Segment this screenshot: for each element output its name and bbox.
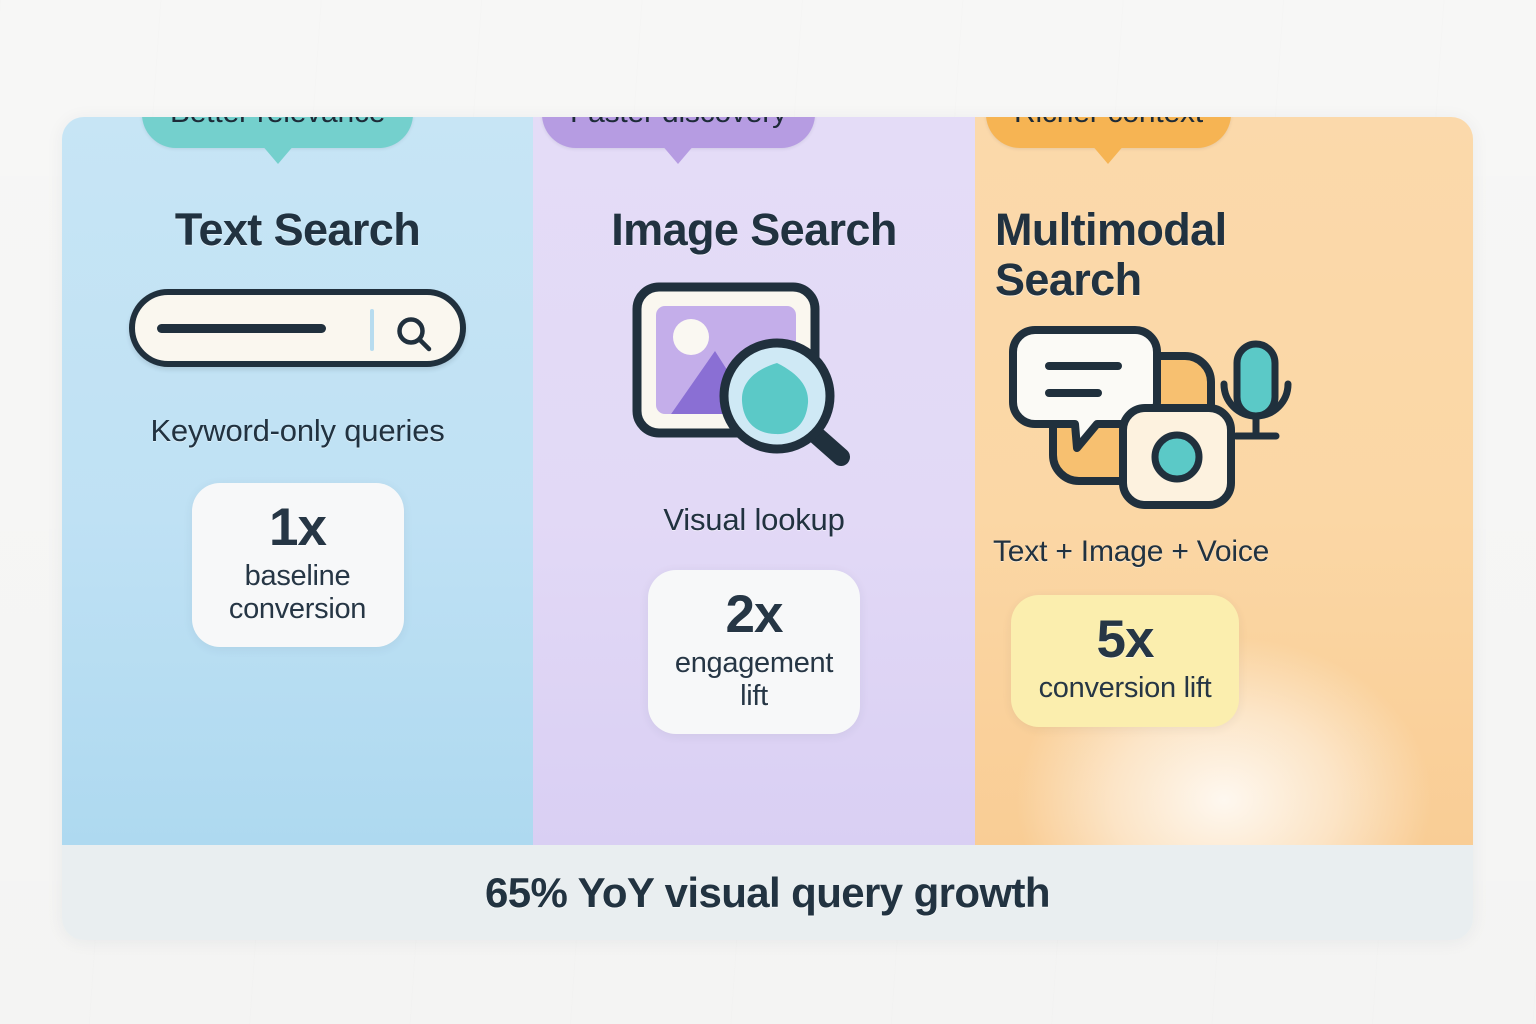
search-query-line [157,324,326,333]
column-image-search-inner: Faster discovery Image Search [533,117,975,845]
column-multimodal-search-inner: Richer context Multimodal Search [975,117,1473,845]
chat-camera-mic-icon[interactable] [987,318,1311,523]
stat-card-text-search: 1x baseline conversion [192,483,404,647]
badge-tail [1091,144,1125,164]
caption-multimodal-search: Text + Image + Voice [987,533,1269,571]
badge-label: Faster discovery [570,117,787,129]
search-divider [370,309,374,351]
stat-number: 5x [1025,613,1225,666]
caption-label: Keyword-only queries [150,413,444,448]
caption-image-search: Visual lookup [589,500,919,540]
infographic-board: Better relevance Text Search Key [62,117,1473,940]
column-image-search[interactable]: Faster discovery Image Search [533,117,975,845]
page-title-multimodal-search: Multimodal Search [987,205,1325,306]
column-multimodal-search[interactable]: Richer context Multimodal Search [975,117,1473,845]
caption-text-search: Keyword-only queries [148,411,448,451]
badge-label: Richer context [1014,117,1203,129]
columns-row: Better relevance Text Search Key [62,117,1473,845]
footer-text: 65% YoY visual query growth [485,869,1050,917]
column-text-search-inner: Better relevance Text Search Key [62,117,533,845]
page-title-image-search: Image Search [611,205,896,255]
badge-tail [261,144,295,164]
badge-faster-discovery[interactable]: Faster discovery [542,117,815,148]
stat-label: conversion lift [1025,672,1225,704]
badge-better-relevance[interactable]: Better relevance [142,117,413,148]
badge-tail [661,144,695,164]
caption-label: Visual lookup [663,502,844,537]
footer-banner: 65% YoY visual query growth [62,845,1473,940]
search-bar-icon[interactable] [129,289,466,367]
stat-card-multimodal-search: 5x conversion lift [1011,595,1239,726]
column-text-search[interactable]: Better relevance Text Search Key [62,117,533,845]
stat-card-image-search: 2x engagement lift [648,570,860,734]
search-icon[interactable] [392,313,436,362]
badge-label: Better relevance [170,117,385,129]
badge-richer-context[interactable]: Richer context [986,117,1231,148]
stat-label: baseline conversion [206,560,390,625]
stat-number: 2x [662,588,846,641]
photo-magnifier-icon[interactable] [629,279,879,474]
stat-number: 1x [206,501,390,554]
page-title-text-search: Text Search [175,205,420,255]
caption-label: Text + Image + Voice [993,535,1269,568]
stat-label: engagement lift [662,647,846,712]
